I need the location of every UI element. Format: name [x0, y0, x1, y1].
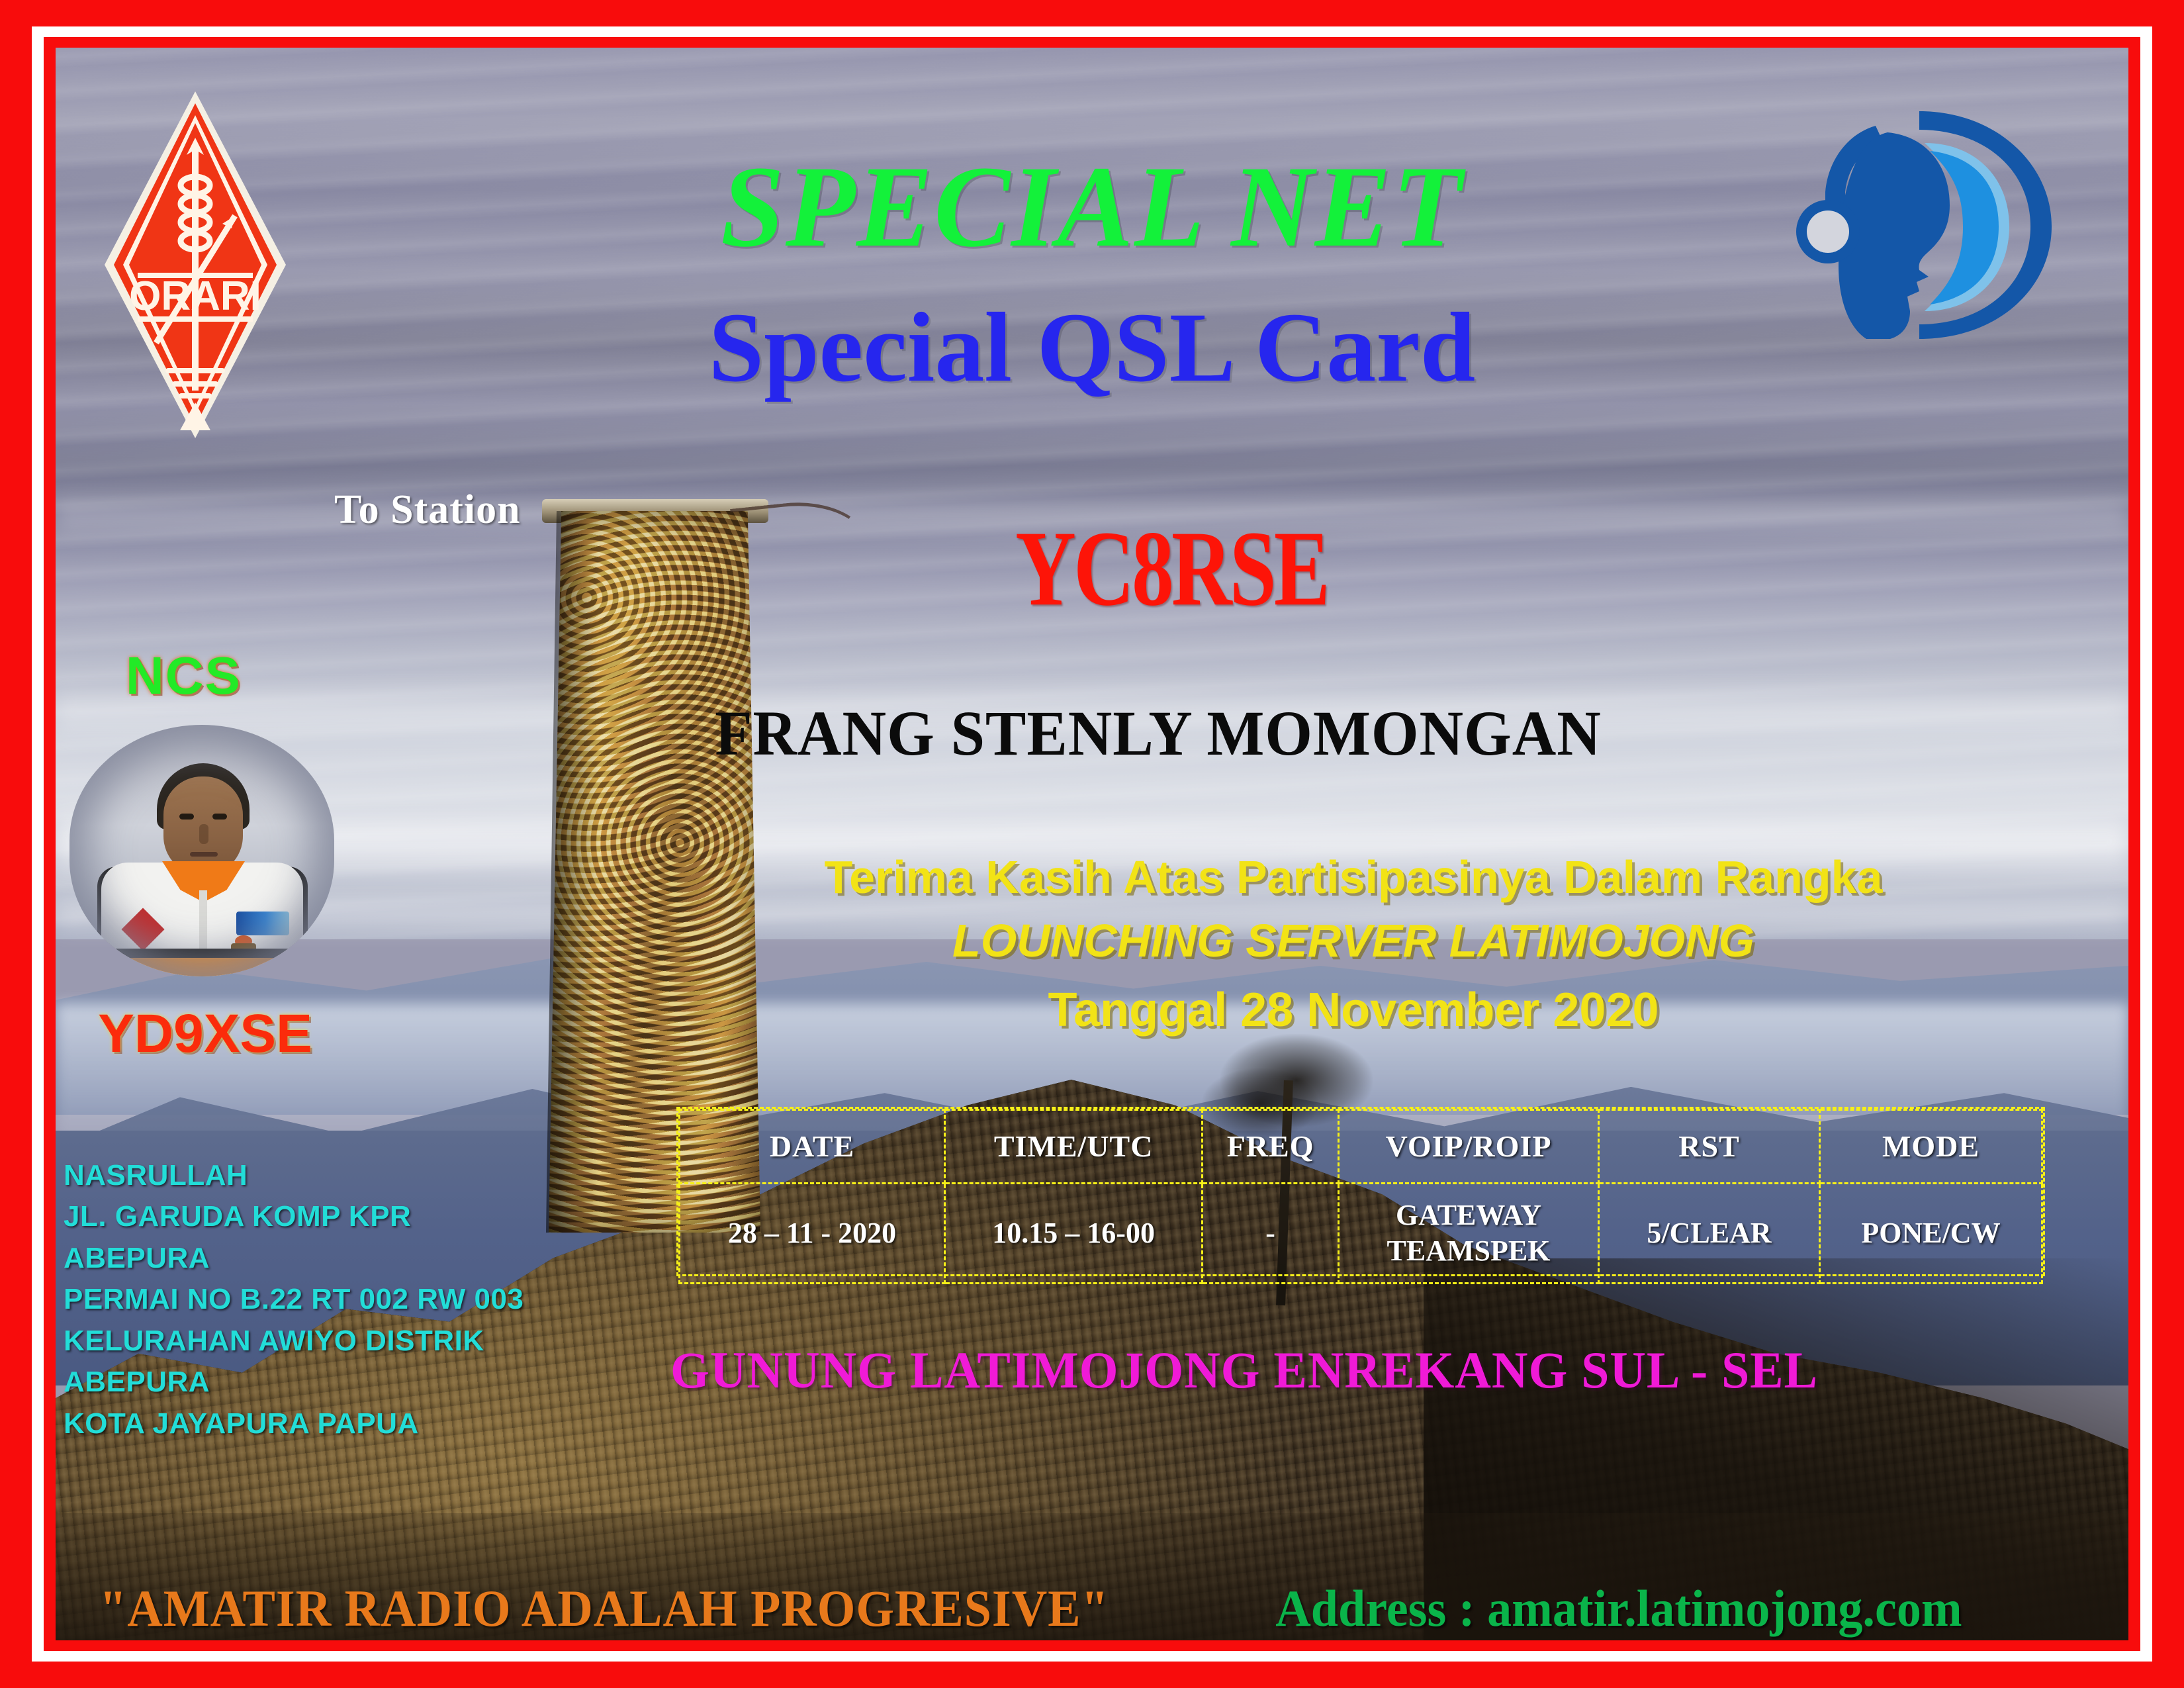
portrait-vignette	[69, 725, 334, 976]
cell-time: 10.15 – 16-00	[945, 1184, 1203, 1284]
table-row: 28 – 11 - 2020 10.15 – 16-00 - GATEWAY T…	[680, 1184, 2042, 1284]
event-line-3: Tanggal 28 November 2020	[675, 986, 2032, 1034]
event-line-2: LOUNCHING SERVER LATIMOJONG	[675, 917, 2032, 964]
column-header-date: DATE	[680, 1110, 945, 1184]
qso-log-table: DATE TIME/UTC FREQ VOIP/ROIP RST MODE 28…	[676, 1107, 2045, 1276]
web-address: Address : amatir.latimojong.com	[1275, 1579, 1962, 1638]
cell-mode: PONE/CW	[1820, 1184, 2042, 1284]
event-line-1: Terima Kasih Atas Partisipasinya Dalam R…	[675, 854, 2032, 900]
ncs-callsign: YD9XSE	[66, 1003, 344, 1065]
ncs-portrait-avatar: YD9XSE	[69, 725, 334, 976]
cell-rst: 5/CLEAR	[1599, 1184, 1820, 1284]
page-title: SPECIAL NET	[22, 149, 2162, 265]
address-line: PERMAI NO B.22 RT 002 RW 003	[64, 1279, 633, 1320]
ncs-address: NASRULLAH JL. GARUDA KOMP KPR ABEPURA PE…	[64, 1155, 633, 1444]
monument-shadow	[546, 511, 599, 1233]
station-callsign: YC8RSE	[867, 515, 1476, 623]
address-line: KOTA JAYAPURA PAPUA	[64, 1403, 633, 1444]
address-line: KELURAHAN AWIYO DISTRIK	[64, 1321, 633, 1362]
ncs-label: NCS	[126, 645, 242, 706]
column-header-voip: VOIP/ROIP	[1338, 1110, 1598, 1184]
event-location: GUNUNG LATIMOJONG ENREKANG SUL - SEL	[615, 1340, 1873, 1400]
qsl-card: ORARI SPECIAL NET Special QSL Card To St…	[0, 0, 2184, 1688]
club-motto: "AMATIR RADIO ADALAH PROGRESIVE"	[99, 1579, 1109, 1638]
address-line: ABEPURA	[64, 1238, 633, 1279]
cell-voip: GATEWAY TEAMSPEK	[1338, 1184, 1598, 1284]
event-message: Terima Kasih Atas Partisipasinya Dalam R…	[675, 854, 2032, 1034]
cell-date: 28 – 11 - 2020	[680, 1184, 945, 1284]
table-header-row: DATE TIME/UTC FREQ VOIP/ROIP RST MODE	[680, 1110, 2042, 1184]
to-station-label: To Station	[334, 487, 521, 534]
page-subtitle: Special QSL Card	[0, 298, 2184, 397]
column-header-time: TIME/UTC	[945, 1110, 1203, 1184]
column-header-rst: RST	[1599, 1110, 1820, 1184]
operator-name: FRANG STENLY MOMONGAN	[618, 702, 1698, 765]
address-line: NASRULLAH	[64, 1155, 633, 1196]
column-header-freq: FREQ	[1203, 1110, 1339, 1184]
cell-freq: -	[1203, 1184, 1339, 1284]
address-line: JL. GARUDA KOMP KPR	[64, 1196, 633, 1237]
column-header-mode: MODE	[1820, 1110, 2042, 1184]
address-line: ABEPURA	[64, 1362, 633, 1403]
